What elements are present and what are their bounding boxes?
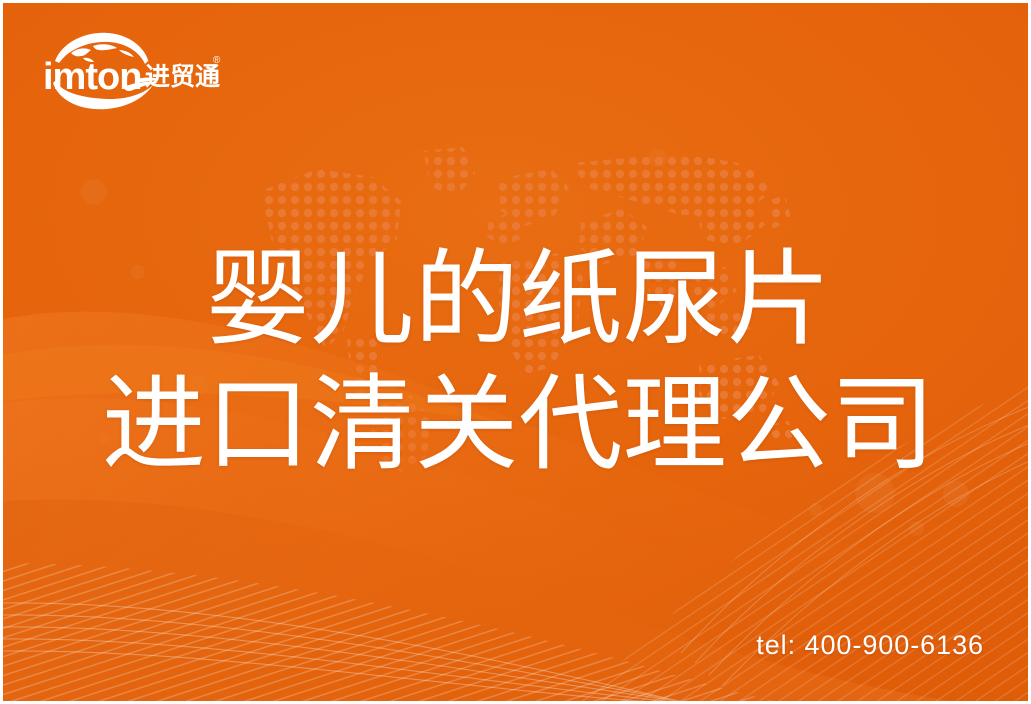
svg-text:®: ® [213,55,221,66]
contact-telephone[interactable]: tel: 400-900-6136 [756,630,984,661]
globe-swoosh-plane-icon: imton 进贸通 ® [41,31,221,111]
brand-logo[interactable]: imton 进贸通 ® [41,31,221,111]
svg-text:进贸通: 进贸通 [145,63,220,91]
svg-text:imton: imton [43,56,141,98]
headline-line-2: 进口清关代理公司 [3,364,1031,487]
promo-banner: imton 进贸通 ® 婴儿的纸尿片 进口清关代理公司 tel: 400-900… [0,0,1031,704]
headline: 婴儿的纸尿片 进口清关代理公司 [3,239,1031,486]
headline-line-1: 婴儿的纸尿片 [3,239,1031,362]
